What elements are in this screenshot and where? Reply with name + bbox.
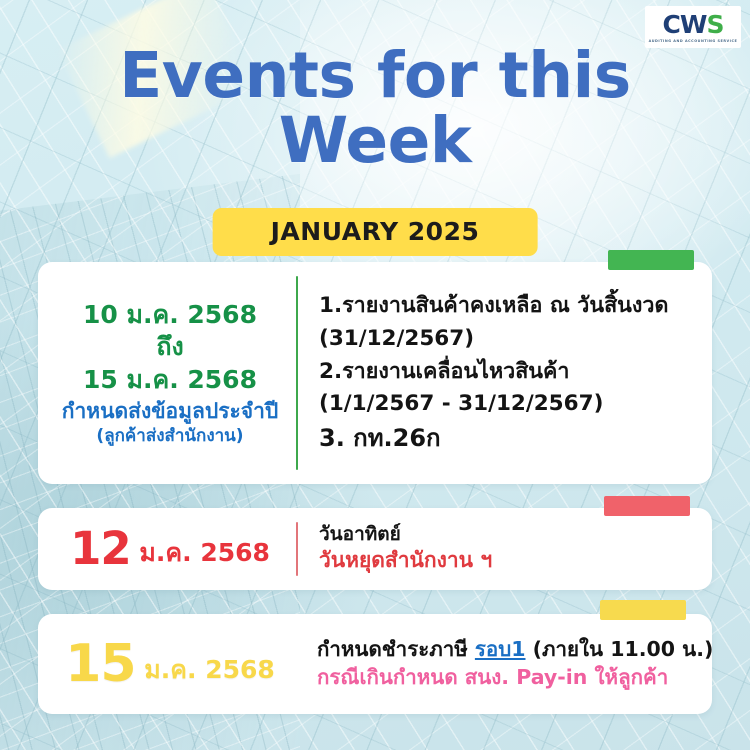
poster-canvas: CWS AUDITING AND ACCOUNTING SERVICE Even… — [0, 0, 750, 750]
page-title: Events for this Week — [0, 44, 750, 174]
card-1-note-small: (ลูกค้าส่งสำนักงาน) — [44, 425, 296, 447]
logo-tagline: AUDITING AND ACCOUNTING SERVICE — [649, 39, 738, 43]
logo-letter-c: C — [663, 10, 680, 39]
card-2-date-number: 12 — [70, 522, 131, 575]
card-1-date-connector: ถึง — [44, 331, 296, 364]
logo-wordmark: CWS — [663, 12, 724, 37]
tape-accent-red — [604, 496, 690, 516]
card-3-round-link[interactable]: รอบ1 — [475, 637, 526, 661]
card-1-detail-2: (31/12/2567) — [319, 323, 702, 356]
month-banner: JANUARY 2025 — [213, 208, 538, 256]
event-card-annual-data-submission: 10 ม.ค. 2568 ถึง 15 ม.ค. 2568 กำหนดส่งข้… — [38, 262, 712, 484]
tape-accent-green — [608, 250, 694, 270]
event-card-office-holiday: 12 ม.ค. 2568 วันอาทิตย์ วันหยุดสำนักงาน … — [38, 508, 712, 590]
card-1-details-column: 1.รายงานสินค้าคงเหลือ ณ วันสิ้นงวด (31/1… — [298, 290, 712, 455]
card-3-line-1: กำหนดชำระภาษี รอบ1 (ภายใน 11.00 น.) — [317, 636, 713, 663]
card-1-detail-5: 3. กท.26ก — [319, 421, 702, 456]
card-3-date-number: 15 — [65, 634, 135, 694]
card-3-line-2: กรณีเกินกำหนด สนง. Pay-in ให้ลูกค้า — [317, 664, 713, 692]
card-1-note: กำหนดส่งข้อมูลประจำปี — [44, 398, 296, 425]
card-3-details-column: กำหนดชำระภาษี รอบ1 (ภายใน 11.00 น.) กรณี… — [296, 636, 723, 692]
tape-accent-yellow — [600, 600, 686, 620]
logo-letter-w: W — [680, 10, 707, 39]
card-2-details-column: วันอาทิตย์ วันหยุดสำนักงาน ฯ — [298, 523, 712, 574]
card-2-line-1: วันอาทิตย์ — [319, 523, 702, 547]
event-card-tax-payment-deadline: 15 ม.ค. 2568 กำหนดชำระภาษี รอบ1 (ภายใน 1… — [38, 614, 712, 714]
card-1-date-end: 15 ม.ค. 2568 — [44, 364, 296, 397]
cws-logo: CWS AUDITING AND ACCOUNTING SERVICE — [645, 6, 741, 48]
card-2-line-2: วันหยุดสำนักงาน ฯ — [319, 547, 702, 574]
card-2-date-rest: ม.ค. 2568 — [131, 538, 270, 567]
card-1-detail-3: 2.รายงานเคลื่อนไหวสินค้า — [319, 356, 702, 389]
card-3-line-1-prefix: กำหนดชำระภาษี — [317, 637, 475, 661]
card-1-detail-4: (1/1/2567 - 31/12/2567) — [319, 388, 702, 421]
logo-letter-s: S — [706, 10, 723, 39]
card-2-date-column: 12 ม.ค. 2568 — [38, 526, 296, 573]
card-1-date-start: 10 ม.ค. 2568 — [44, 299, 296, 332]
card-1-date-column: 10 ม.ค. 2568 ถึง 15 ม.ค. 2568 กำหนดส่งข้… — [38, 299, 296, 447]
card-1-detail-1: 1.รายงานสินค้าคงเหลือ ณ วันสิ้นงวด — [319, 290, 702, 323]
card-3-date-column: 15 ม.ค. 2568 — [38, 638, 296, 690]
card-3-line-1-suffix: (ภายใน 11.00 น.) — [526, 637, 714, 661]
card-3-date-rest: ม.ค. 2568 — [136, 655, 275, 684]
